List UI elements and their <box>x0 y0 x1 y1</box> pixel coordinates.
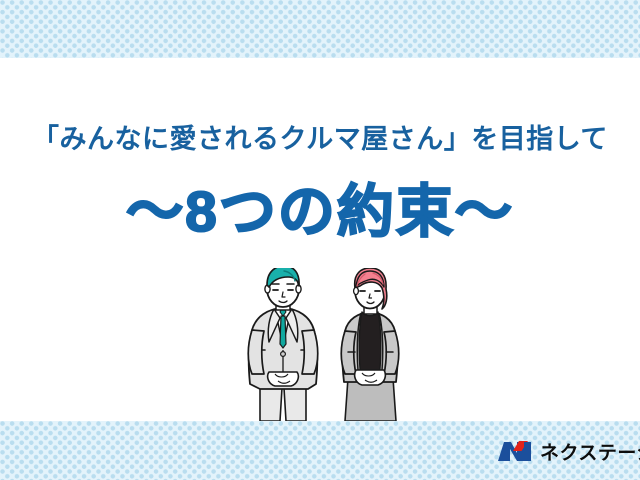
headline-primary: 「みんなに愛されるクルマ屋さん」を目指して <box>0 126 640 153</box>
nexstage-n-mark-icon <box>497 439 533 468</box>
top-dot-band <box>0 0 640 58</box>
promo-banner: 「みんなに愛されるクルマ屋さん」を目指して 〜8つの約束〜 <box>0 0 640 480</box>
brand-logo[interactable]: ネクステージ <box>497 438 640 468</box>
female-staff-figure <box>341 268 399 421</box>
brand-wordmark: ネクステージ <box>540 444 640 463</box>
headline-secondary: 〜8つの約束〜 <box>0 183 640 243</box>
staff-illustration <box>228 268 438 421</box>
male-staff-figure <box>248 268 318 421</box>
